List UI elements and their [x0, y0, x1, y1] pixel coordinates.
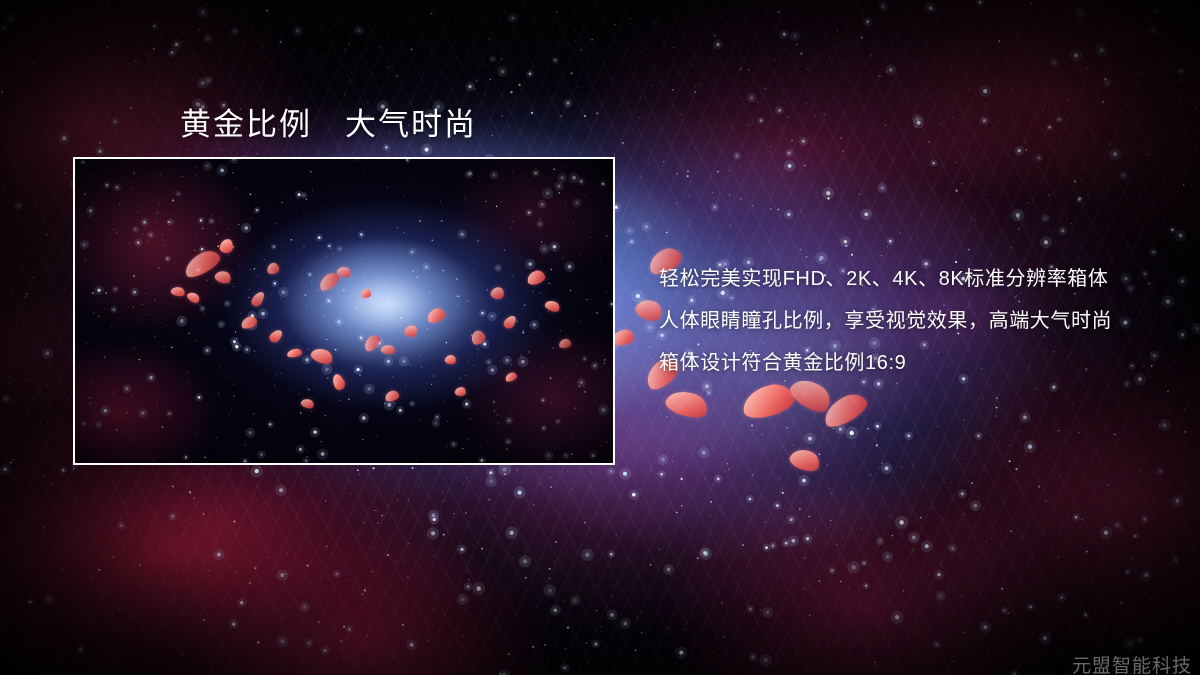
petal [787, 445, 822, 475]
page-title: 黄金比例 大气时尚 [180, 99, 477, 144]
petal [663, 386, 710, 422]
body-text-block: 轻松完美实现FHD、2K、4K、8K标准分辨率箱体 人体眼睛瞳孔比例，享受视觉效… [659, 258, 1159, 384]
petal [739, 380, 797, 422]
framed-image [73, 157, 615, 465]
watermark: 元盟智能科技 [1072, 651, 1192, 675]
body-line-3: 箱体设计符合黄金比例16:9 [659, 342, 1159, 384]
body-line-2: 人体眼睛瞳孔比例，享受视觉效果，高端大气时尚 [659, 300, 1159, 342]
presentation-slide: 黄金比例 大气时尚 轻松完美实现FHD、2K、4K、8K标准分辨率箱体 人体眼睛… [0, 0, 1200, 675]
frame-vignette [75, 159, 613, 463]
body-line-1: 轻松完美实现FHD、2K、4K、8K标准分辨率箱体 [659, 258, 1159, 300]
